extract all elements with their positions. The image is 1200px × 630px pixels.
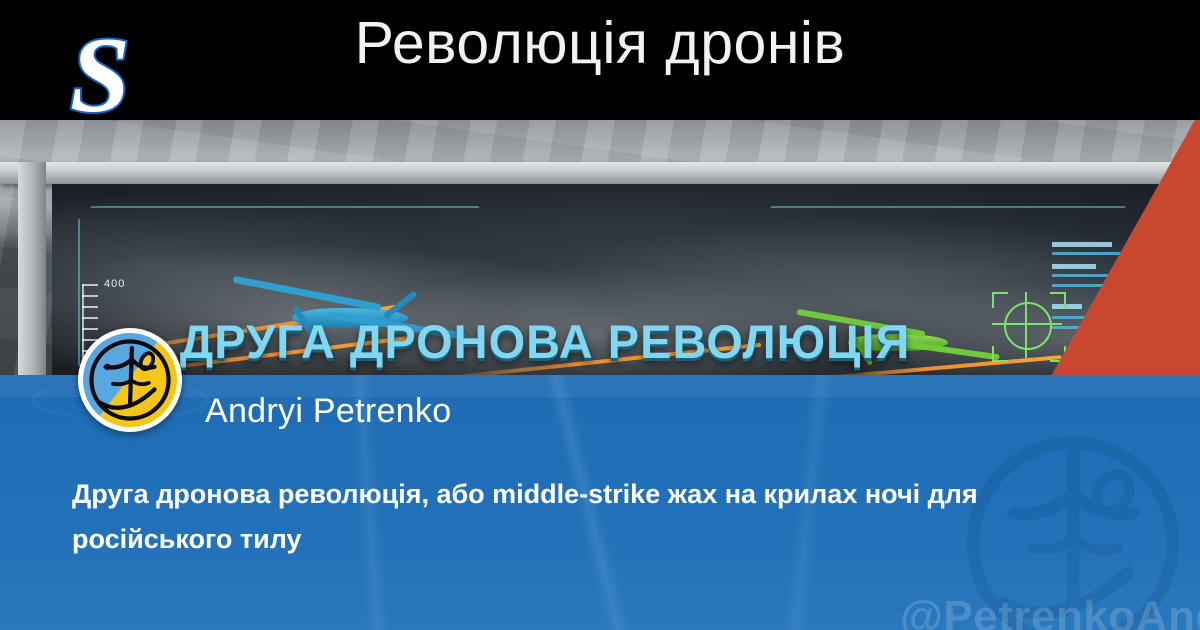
page-title: Революція дронів [0, 8, 1200, 78]
page-header: S Революція дронів [0, 0, 1200, 120]
social-preview-card: S Революція дронів 400 [0, 0, 1200, 630]
site-logo-letter: S [70, 14, 130, 138]
banner-frame-rail [0, 162, 1200, 184]
author-avatar[interactable] [78, 328, 182, 432]
watermark-handle: @PetrenkoAndryi [900, 592, 1200, 630]
article-title[interactable]: Друга дронова революція, або middle-stri… [72, 472, 1002, 562]
site-logo-s[interactable]: S [70, 22, 150, 122]
hud-altitude-value: 400 [104, 278, 125, 290]
banner-image: 400 [0, 118, 1200, 378]
avatar-drone-icon [83, 333, 177, 427]
author-name[interactable]: Andryi Petrenko [205, 392, 451, 431]
